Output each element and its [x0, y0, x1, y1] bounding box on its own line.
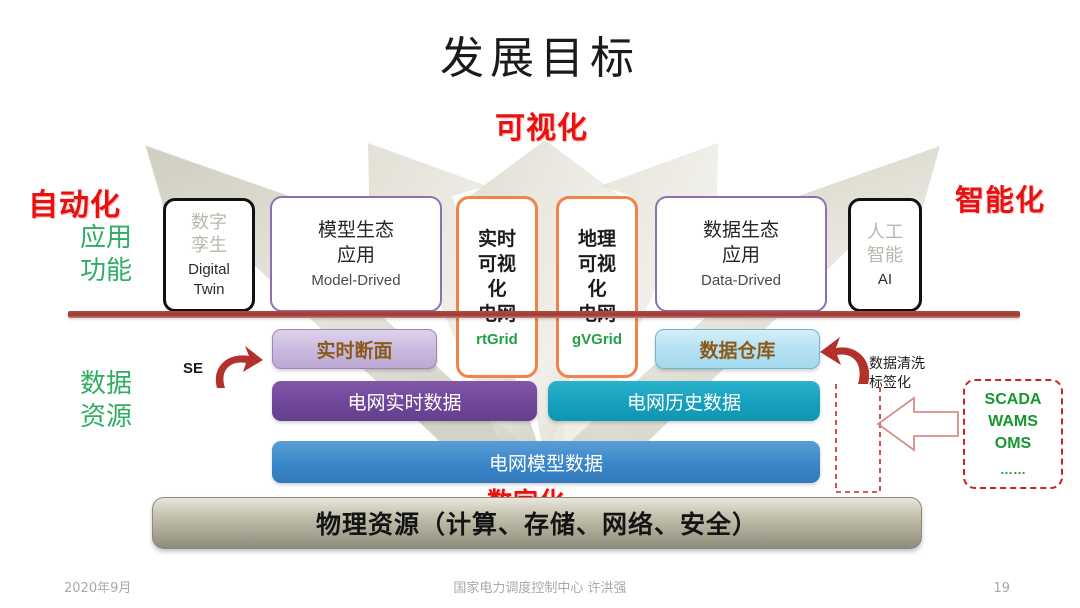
source-item-more: …… [1000, 462, 1026, 477]
app-box-ai-cn: 人工 智能 [867, 221, 903, 267]
vis-box-gvgrid-en: gVGrid [572, 331, 622, 348]
rail-label-data: 数据 资源 [58, 368, 154, 434]
se-label: SE [183, 360, 203, 377]
source-systems-box[interactable]: SCADA WAMS OMS …… [963, 379, 1063, 489]
app-box-digital-twin[interactable]: 数字 孪生 Digital Twin [163, 198, 255, 312]
app-box-digital-twin-cn: 数字 孪生 [191, 211, 227, 257]
footer-organization: 国家电力调度控制中心 许洪强 [0, 577, 1080, 596]
source-feed-connector [826, 380, 966, 498]
bar-data-warehouse[interactable]: 数据仓库 [655, 329, 820, 369]
source-item-scada: SCADA [985, 389, 1042, 411]
se-curved-arrow-icon [205, 340, 265, 395]
bar-history-data[interactable]: 电网历史数据 [548, 381, 820, 421]
goal-label-visualization: 可视化 [495, 103, 588, 147]
section-divider [68, 311, 1020, 318]
source-item-wams: WAMS [988, 411, 1038, 433]
goal-label-intelligence: 智能化 [955, 177, 1045, 219]
app-box-data-driven[interactable]: 数据生态 应用 Data-Drived [655, 196, 827, 312]
rail-data-line2: 资源 [58, 401, 154, 434]
app-box-model-driven[interactable]: 模型生态 应用 Model-Drived [270, 196, 442, 312]
footer-page-number: 19 [993, 581, 1010, 596]
slide-title: 发展目标 [0, 22, 1080, 86]
bar-realtime-section[interactable]: 实时断面 [272, 329, 437, 369]
source-item-oms: OMS [995, 433, 1031, 455]
goal-label-automation: 自动化 [28, 180, 121, 224]
rail-data-line1: 数据 [58, 368, 154, 401]
bar-physical-resources[interactable]: 物理资源（计算、存储、网络、安全） [152, 497, 922, 549]
app-box-data-driven-cn: 数据生态 应用 [703, 218, 779, 268]
vis-box-gvgrid[interactable]: 地理 可视 化 电网 gVGrid [556, 196, 638, 378]
rail-label-application: 应用 功能 [58, 222, 154, 288]
rail-application-line2: 功能 [58, 255, 154, 288]
slide-canvas: 发展目标 自动化 可视化 智能化 数字化 应用 功能 数据 资源 数字 孪生 D… [0, 0, 1080, 608]
app-box-model-driven-en: Model-Drived [311, 271, 400, 291]
bar-realtime-data[interactable]: 电网实时数据 [272, 381, 537, 421]
app-box-ai-en: AI [878, 270, 892, 290]
app-box-model-driven-cn: 模型生态 应用 [318, 218, 394, 268]
vis-box-rtgrid-en: rtGrid [476, 331, 518, 348]
cleaning-line1: 数据清洗 [869, 355, 969, 374]
rail-application-line1: 应用 [58, 222, 154, 255]
vis-box-rtgrid[interactable]: 实时 可视 化 电网 rtGrid [456, 196, 538, 378]
app-box-digital-twin-en: Digital Twin [188, 260, 230, 300]
bar-model-data[interactable]: 电网模型数据 [272, 441, 820, 483]
app-box-data-driven-en: Data-Drived [701, 271, 781, 291]
app-box-artificial-intelligence[interactable]: 人工 智能 AI [848, 198, 922, 312]
visualization-group: 实时 可视 化 电网 rtGrid 地理 可视 化 电网 gVGrid [452, 190, 644, 384]
